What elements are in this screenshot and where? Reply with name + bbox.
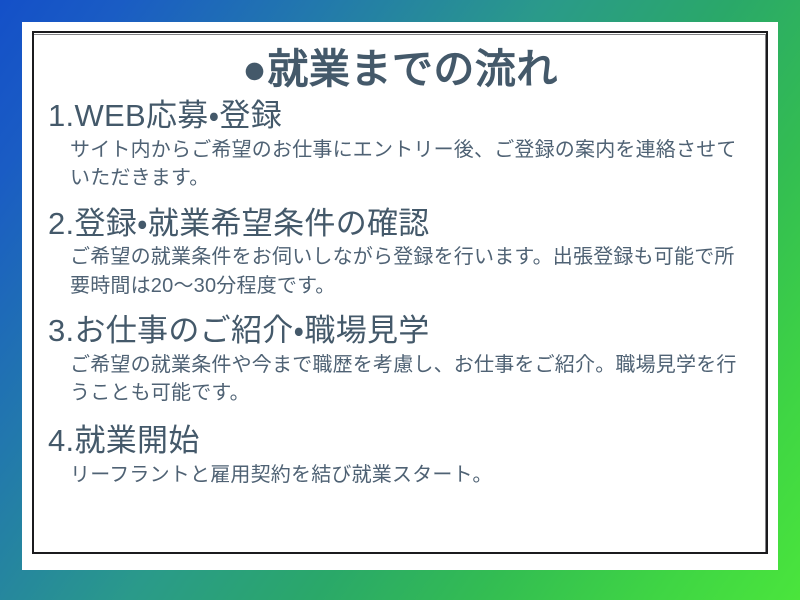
step-1-body: サイト内からご希望のお仕事にエントリー後、ご登録の案内を連絡させていただきます。 bbox=[70, 136, 752, 193]
content-frame: ●就業までの流れ 1.WEB応募・登録 サイト内からご希望のお仕事にエントリー後… bbox=[32, 31, 768, 554]
step-2-heading: 2.登録・就業希望条件の確認 bbox=[48, 205, 752, 243]
page-title: ●就業までの流れ bbox=[48, 47, 752, 93]
step-item-1: 1.WEB応募・登録 サイト内からご希望のお仕事にエントリー後、ご登録の案内を連… bbox=[48, 97, 752, 193]
poster-background: ●就業までの流れ 1.WEB応募・登録 サイト内からご希望のお仕事にエントリー後… bbox=[0, 0, 800, 600]
step-3-heading: 3.お仕事のご紹介・職場見学 bbox=[48, 312, 752, 350]
step-2-body: ご希望の就業条件をお伺いしながら登録を行います。出張登録も可能で所要時間は20〜… bbox=[70, 243, 752, 300]
step-4-body: リーフラントと雇用契約を結び就業スタート。 bbox=[70, 461, 752, 489]
step-1-heading: 1.WEB応募・登録 bbox=[48, 97, 752, 135]
step-3-body: ご希望の就業条件や今まで職歴を考慮し、お仕事をご紹介。職場見学を行うことも可能で… bbox=[70, 351, 752, 408]
step-item-4: 4.就業開始 リーフラントと雇用契約を結び就業スタート。 bbox=[48, 422, 752, 489]
white-card: ●就業までの流れ 1.WEB応募・登録 サイト内からご希望のお仕事にエントリー後… bbox=[22, 22, 778, 570]
step-item-3: 3.お仕事のご紹介・職場見学 ご希望の就業条件や今まで職歴を考慮し、お仕事をご紹… bbox=[48, 312, 752, 408]
step-4-heading: 4.就業開始 bbox=[48, 422, 752, 460]
step-item-2: 2.登録・就業希望条件の確認 ご希望の就業条件をお伺いしながら登録を行います。出… bbox=[48, 205, 752, 301]
